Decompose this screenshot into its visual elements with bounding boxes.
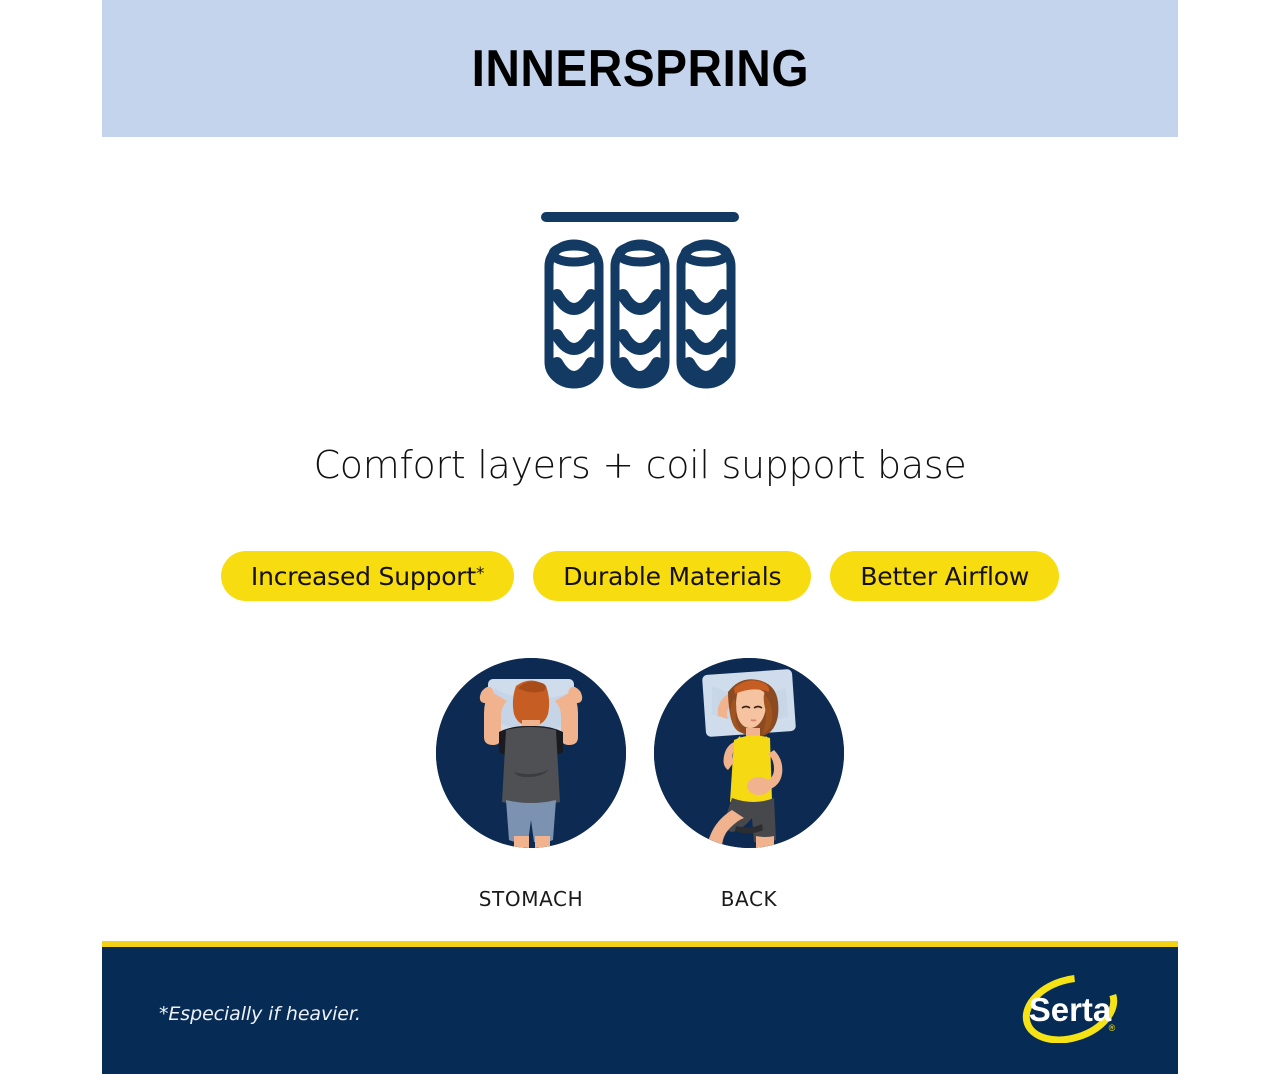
page-title: INNERSPRING bbox=[471, 39, 808, 99]
sleep-positions: STOMACH bbox=[102, 658, 1178, 911]
sleep-position-stomach[interactable]: STOMACH bbox=[436, 658, 626, 911]
serta-wordmark: Serta bbox=[1029, 991, 1112, 1028]
sleep-position-back[interactable]: BACK bbox=[654, 658, 844, 911]
back-sleeper-illustration bbox=[654, 658, 844, 848]
header-band: INNERSPRING bbox=[102, 0, 1178, 137]
benefit-pill-label: Increased Support bbox=[251, 562, 476, 591]
sleep-position-label: STOMACH bbox=[479, 887, 583, 911]
coil-springs-icon bbox=[540, 196, 740, 391]
stomach-sleeper-circle bbox=[436, 658, 626, 848]
benefit-pill-label: Better Airflow bbox=[860, 562, 1029, 591]
serta-logo-mark: Serta ® bbox=[1020, 975, 1124, 1043]
stomach-sleeper-illustration bbox=[436, 658, 626, 848]
registered-trademark-icon: ® bbox=[1109, 1023, 1116, 1033]
benefit-pill-label: Durable Materials bbox=[563, 562, 781, 591]
coil-icon-wrap bbox=[102, 196, 1178, 391]
innerspring-info-card: INNERSPRING bbox=[102, 0, 1178, 1074]
benefit-pill-increased-support[interactable]: Increased Support* bbox=[221, 551, 514, 601]
back-sleeper-circle bbox=[654, 658, 844, 848]
benefit-pill-better-airflow[interactable]: Better Airflow bbox=[830, 551, 1059, 601]
footnote-text: *Especially if heavier. bbox=[159, 1003, 361, 1025]
tagline: Comfort layers + coil support base bbox=[102, 443, 1178, 487]
serta-logo[interactable]: Serta ® bbox=[1020, 975, 1124, 1043]
benefit-pill-row: Increased Support* Durable Materials Bet… bbox=[102, 551, 1178, 601]
benefit-pill-durable-materials[interactable]: Durable Materials bbox=[533, 551, 811, 601]
sleep-position-label: BACK bbox=[721, 887, 778, 911]
footer-band: *Especially if heavier. Serta ® bbox=[102, 947, 1178, 1074]
